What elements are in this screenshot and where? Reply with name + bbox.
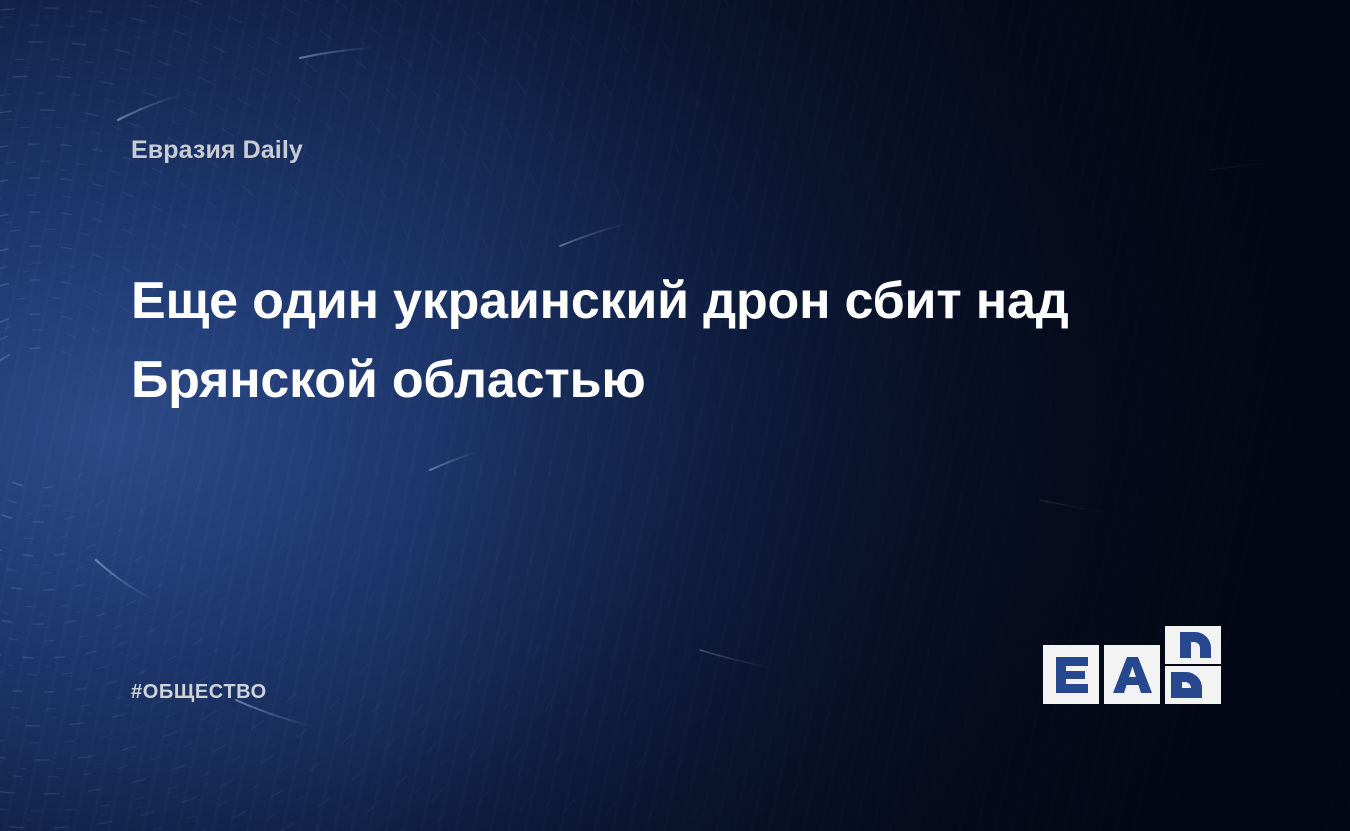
logo-tile-e [1043,645,1099,704]
eadaily-logo[interactable] [1043,624,1221,706]
logo-tile-a [1104,645,1160,704]
news-share-card: Евразия Daily Еще один украинский дрон с… [0,0,1350,831]
card-content: Евразия Daily Еще один украинский дрон с… [0,0,1350,831]
category-tag[interactable]: #ОБЩЕСТВО [131,681,267,704]
brand-label: Евразия Daily [131,136,303,165]
logo-tile-d [1165,626,1221,704]
page-title: Еще один украинский дрон сбит над Брянск… [131,262,1131,420]
